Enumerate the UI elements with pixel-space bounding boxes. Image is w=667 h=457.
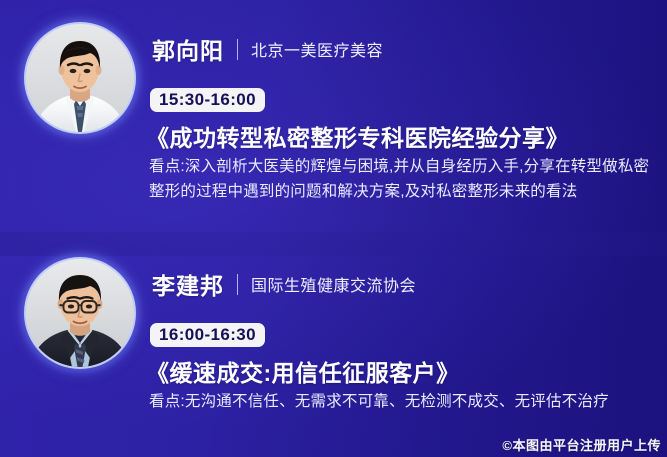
session-title: 《成功转型私密整形专科医院经验分享》 (146, 119, 569, 153)
watermark: ©本图由平台注册用户上传 (502, 435, 661, 454)
avatar-photo (26, 259, 134, 367)
avatar-photo (26, 24, 134, 132)
speaker-organization: 国际生殖健康交流协会 (251, 272, 416, 296)
session-title: 《缓速成交:用信任征服客户》 (146, 354, 460, 388)
background-band-middle (0, 232, 667, 256)
speaker-name: 李建邦 (152, 267, 224, 301)
avatar (26, 259, 134, 367)
session-time-badge: 15:30-16:00 (150, 88, 265, 112)
speaker-meta: 李建邦 国际生殖健康交流协会 (152, 267, 416, 301)
meta-separator-icon (237, 39, 238, 60)
speaker-meta: 郭向阳 北京一美医疗美容 (152, 32, 383, 66)
agenda-poster: 郭向阳 北京一美医疗美容 15:30-16:00 《成功转型私密整形专科医院经验… (0, 0, 667, 457)
session-description: 看点:深入剖析大医美的辉煌与困境,并从自身经历入手,分享在转型做私密整形的过程中… (149, 154, 655, 204)
speaker-organization: 北京一美医疗美容 (251, 37, 383, 61)
session-time-badge: 16:00-16:30 (150, 323, 265, 347)
avatar (26, 24, 134, 132)
meta-separator-icon (237, 274, 238, 295)
speaker-name: 郭向阳 (152, 32, 224, 66)
session-description: 看点:无沟通不信任、无需求不可靠、无检测不成交、无评估不治疗 (149, 389, 655, 414)
